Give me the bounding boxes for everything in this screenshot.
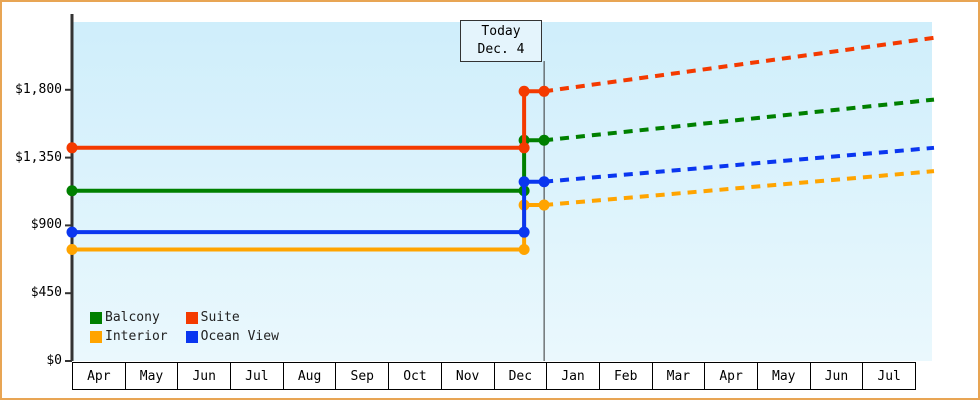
legend-color-swatch [186, 312, 198, 324]
x-axis-month-cell[interactable]: Jun [178, 363, 231, 389]
legend-label: Interior [105, 329, 168, 344]
data-point-marker[interactable] [519, 227, 530, 238]
y-axis-label: $0 [2, 354, 62, 367]
x-axis-month-cell[interactable]: May [758, 363, 811, 389]
x-axis-month-cell[interactable]: Sep [336, 363, 389, 389]
chart-frame: $0$450$900$1,350$1,800 Today Dec. 4 Balc… [0, 0, 980, 400]
legend-color-swatch [90, 331, 102, 343]
data-point-marker[interactable] [519, 244, 530, 255]
legend-item-balcony[interactable]: Balcony [90, 310, 168, 325]
today-label-date: Dec. 4 [478, 41, 525, 59]
data-point-marker[interactable] [539, 135, 550, 146]
legend-item-ocean-view[interactable]: Ocean View [186, 329, 279, 344]
legend-item-suite[interactable]: Suite [186, 310, 279, 325]
data-point-marker[interactable] [539, 176, 550, 187]
data-point-marker[interactable] [519, 176, 530, 187]
y-axis-label: $450 [2, 286, 62, 299]
data-point-marker[interactable] [67, 185, 78, 196]
price-trend-chart[interactable]: $0$450$900$1,350$1,800 Today Dec. 4 Balc… [2, 2, 980, 402]
data-point-marker[interactable] [67, 244, 78, 255]
y-axis-label: $1,800 [2, 83, 62, 96]
x-axis-month-cell[interactable]: Jun [811, 363, 864, 389]
x-axis-month-cell[interactable]: Jul [231, 363, 284, 389]
legend-color-swatch [90, 312, 102, 324]
x-axis-month-cell[interactable]: Feb [600, 363, 653, 389]
data-point-marker[interactable] [539, 200, 550, 211]
data-point-marker[interactable] [67, 227, 78, 238]
x-axis-month-cell[interactable]: Apr [73, 363, 126, 389]
x-axis-month-cell[interactable]: Mar [653, 363, 706, 389]
x-axis-month-cell[interactable]: Nov [442, 363, 495, 389]
data-point-marker[interactable] [67, 142, 78, 153]
x-axis-month-cell[interactable]: Aug [284, 363, 337, 389]
x-axis-month-cell[interactable]: Jul [863, 363, 915, 389]
x-axis-month-cell[interactable]: Jan [547, 363, 600, 389]
today-label-title: Today [481, 23, 520, 41]
legend-label: Ocean View [201, 329, 279, 344]
x-axis-month-cell[interactable]: Oct [389, 363, 442, 389]
today-marker-label: Today Dec. 4 [460, 20, 542, 62]
x-axis-month-strip: AprMayJunJulAugSepOctNovDecJanFebMarAprM… [72, 362, 916, 390]
data-point-marker[interactable] [519, 86, 530, 97]
y-axis-label: $900 [2, 218, 62, 231]
legend-color-swatch [186, 331, 198, 343]
chart-legend: BalconySuiteInteriorOcean View [90, 310, 279, 344]
x-axis-month-cell[interactable]: Apr [705, 363, 758, 389]
data-point-marker[interactable] [539, 86, 550, 97]
legend-label: Balcony [105, 310, 160, 325]
y-axis-label: $1,350 [2, 151, 62, 164]
y-axis-tick-labels: $0$450$900$1,350$1,800 [2, 2, 62, 402]
legend-label: Suite [201, 310, 240, 325]
data-point-marker[interactable] [519, 142, 530, 153]
x-axis-month-cell[interactable]: May [126, 363, 179, 389]
legend-item-interior[interactable]: Interior [90, 329, 168, 344]
x-axis-month-cell[interactable]: Dec [495, 363, 548, 389]
